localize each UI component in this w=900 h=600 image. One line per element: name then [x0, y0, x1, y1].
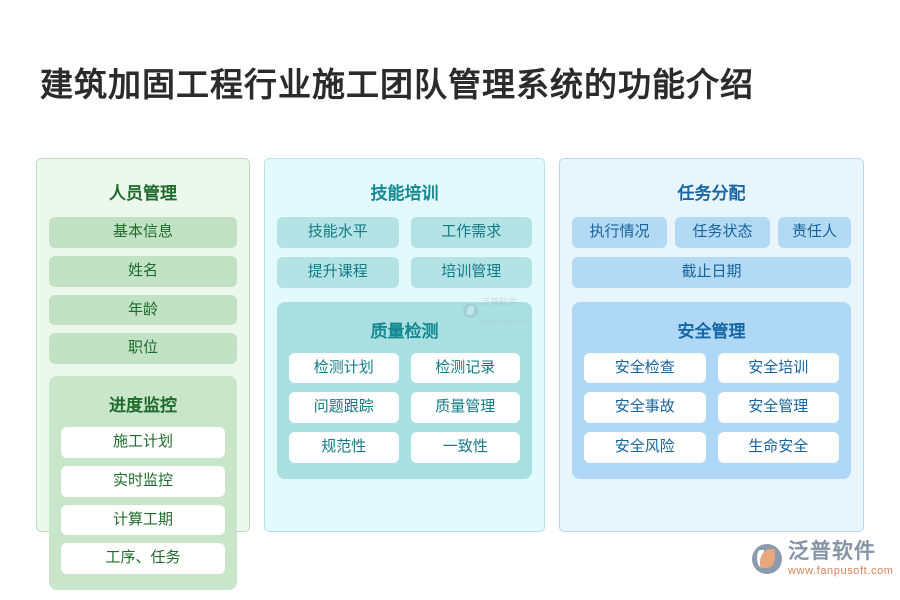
list-item[interactable]: 工序、任务 — [61, 543, 225, 574]
list-item[interactable]: 一致性 — [411, 432, 521, 463]
list-item[interactable]: 提升课程 — [277, 257, 399, 288]
feature-columns: 人员管理 基本信息 姓名 年龄 职位 进度监控 施工计划 实时监控 计算工期 工… — [36, 158, 864, 532]
column-task-assignment: 任务分配 执行情况 任务状态 责任人 截止日期 安全管理 安全检查 安全培训 安… — [559, 158, 864, 532]
list-item[interactable]: 姓名 — [49, 256, 237, 287]
brand-name: 泛普软件 — [788, 541, 894, 562]
group-title-safety-management: 安全管理 — [584, 317, 839, 342]
list-item[interactable]: 施工计划 — [61, 427, 225, 458]
list-item[interactable]: 规范性 — [289, 432, 399, 463]
list-item[interactable]: 执行情况 — [572, 217, 667, 248]
subpanel-progress-monitoring: 进度监控 施工计划 实时监控 计算工期 工序、任务 — [49, 376, 237, 590]
list-item[interactable]: 生命安全 — [718, 432, 840, 463]
brand-logo: 泛普软件 www.fanpusoft.com — [752, 541, 894, 577]
skill-item-grid: 技能水平 工作需求 提升课程 培训管理 — [277, 217, 532, 288]
list-item[interactable]: 培训管理 — [411, 257, 533, 288]
list-item[interactable]: 技能水平 — [277, 217, 399, 248]
list-item[interactable]: 安全管理 — [718, 392, 840, 423]
brand-url: www.fanpusoft.com — [788, 566, 894, 577]
list-item[interactable]: 安全检查 — [584, 353, 706, 384]
list-item[interactable]: 实时监控 — [61, 466, 225, 497]
list-item[interactable]: 检测计划 — [289, 353, 399, 384]
list-item[interactable]: 职位 — [49, 333, 237, 364]
list-item[interactable]: 年龄 — [49, 295, 237, 326]
fanpu-logo-icon — [752, 544, 782, 574]
group-title-quality-inspection: 质量检测 — [289, 317, 520, 342]
list-item[interactable]: 安全事故 — [584, 392, 706, 423]
list-item[interactable]: 安全风险 — [584, 432, 706, 463]
group-title-progress-monitoring: 进度监控 — [61, 391, 225, 416]
column-skill-training: 技能培训 技能水平 工作需求 提升课程 培训管理 质量检测 检测计划 检测记录 … — [264, 158, 545, 532]
page-title: 建筑加固工程行业施工团队管理系统的功能介绍 — [40, 58, 754, 106]
list-item[interactable]: 质量管理 — [411, 392, 521, 423]
column-people-management: 人员管理 基本信息 姓名 年龄 职位 进度监控 施工计划 实时监控 计算工期 工… — [36, 158, 250, 532]
list-item[interactable]: 计算工期 — [61, 505, 225, 536]
task-item-row: 执行情况 任务状态 责任人 — [572, 217, 851, 248]
group-title-task-assignment: 任务分配 — [572, 179, 851, 204]
list-item[interactable]: 工作需求 — [411, 217, 533, 248]
quality-item-grid: 检测计划 检测记录 问题跟踪 质量管理 规范性 一致性 — [289, 353, 520, 463]
list-item[interactable]: 截止日期 — [572, 257, 851, 288]
list-item[interactable]: 任务状态 — [675, 217, 770, 248]
list-item[interactable]: 检测记录 — [411, 353, 521, 384]
people-item-list: 基本信息 姓名 年龄 职位 — [49, 217, 237, 364]
list-item[interactable]: 问题跟踪 — [289, 392, 399, 423]
safety-item-grid: 安全检查 安全培训 安全事故 安全管理 安全风险 生命安全 — [584, 353, 839, 463]
group-title-skill-training: 技能培训 — [277, 179, 532, 204]
task-item-wide-wrap: 截止日期 — [572, 257, 851, 288]
list-item[interactable]: 责任人 — [778, 217, 851, 248]
subpanel-quality-inspection: 质量检测 检测计划 检测记录 问题跟踪 质量管理 规范性 一致性 — [277, 302, 532, 479]
progress-item-list: 施工计划 实时监控 计算工期 工序、任务 — [61, 427, 225, 574]
group-title-people-management: 人员管理 — [49, 179, 237, 204]
subpanel-safety-management: 安全管理 安全检查 安全培训 安全事故 安全管理 安全风险 生命安全 — [572, 302, 851, 479]
list-item[interactable]: 基本信息 — [49, 217, 237, 248]
list-item[interactable]: 安全培训 — [718, 353, 840, 384]
